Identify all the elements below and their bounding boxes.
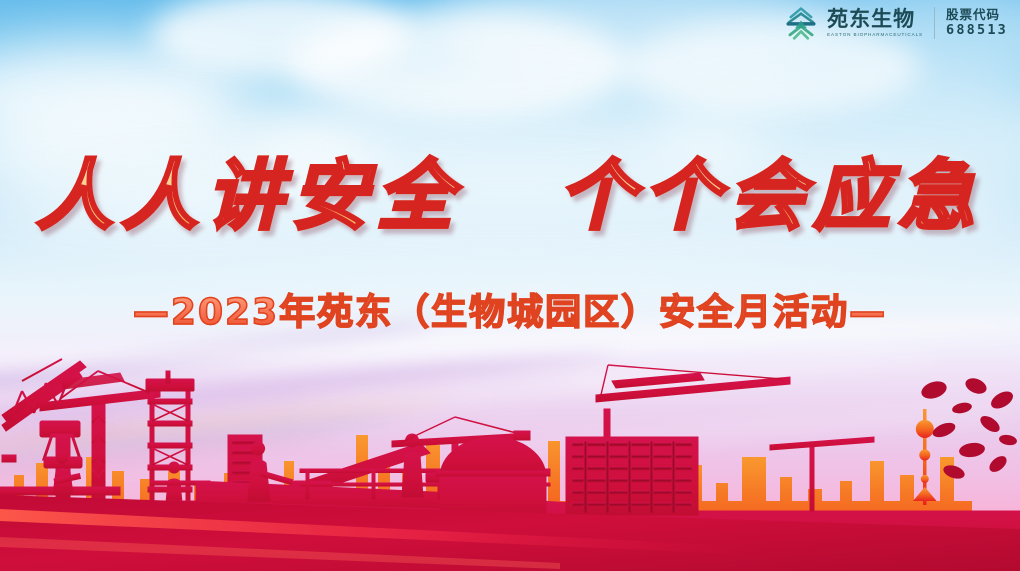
title-part-2: 个个会应急 — [558, 134, 983, 244]
stock-code: 688513 — [946, 22, 1008, 39]
brand-logo-header: 苑东生物 EASTON BIOPHARMACEUTICALS 股票代码 6885… — [784, 6, 1008, 40]
tree-leaf-logo-icon — [784, 6, 818, 40]
ground-band — [0, 451, 1020, 571]
stock-info: 股票代码 688513 — [946, 7, 1008, 40]
stock-label: 股票代码 — [946, 7, 1008, 23]
brand-name-en: EASTON BIOPHARMACEUTICALS — [827, 33, 923, 38]
falling-petals — [910, 378, 1020, 488]
poster-subtitle: —2023年苑东（生物城园区）安全月活动— — [0, 283, 1020, 335]
title-part-1: 人人讲安全 — [37, 134, 462, 244]
poster-canvas: 苑东生物 EASTON BIOPHARMACEUTICALS 股票代码 6885… — [0, 0, 1020, 571]
poster-title: 人人讲安全 个个会应急 — [0, 134, 1020, 244]
subtitle-text: —2023年苑东（生物城园区）安全月活动— — [133, 283, 887, 335]
logo-divider — [934, 7, 935, 39]
brand-name-zh: 苑东生物 — [827, 9, 923, 30]
brand-name-block: 苑东生物 EASTON BIOPHARMACEUTICALS — [827, 9, 923, 38]
